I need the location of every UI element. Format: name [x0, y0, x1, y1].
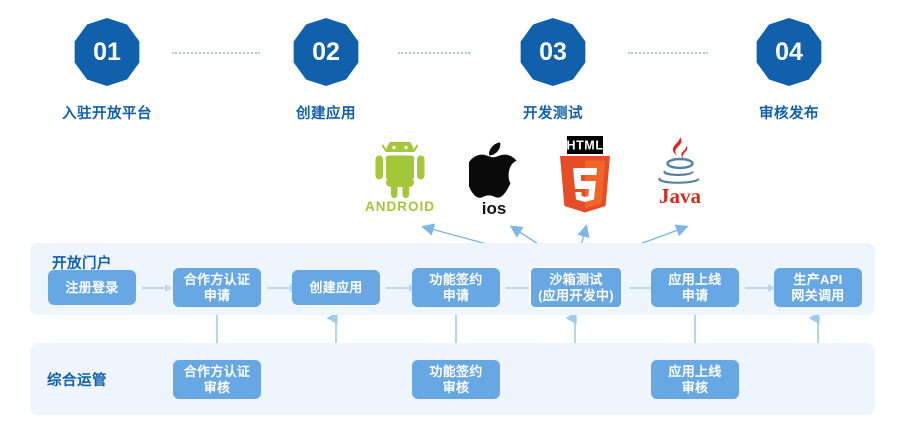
step-label-4: 审核发布 — [714, 102, 864, 123]
step-number-3: 03 — [539, 40, 567, 65]
step-label-2: 创建应用 — [251, 102, 401, 123]
node-register-label: 注册登录 — [65, 280, 118, 296]
step-badge-3: 03 — [519, 18, 587, 86]
node-feature-sign-review-label: 功能签约 审核 — [429, 364, 482, 396]
platform-ios: ios — [449, 136, 539, 217]
step-badges-row: 01 入驻开放平台 02 创建应用 03 开发测试 04 审核发布 — [0, 0, 900, 130]
node-app-online-review[interactable]: 应用上线 审核 — [651, 360, 739, 399]
node-partner-auth-review[interactable]: 合作方认证 审核 — [173, 360, 261, 399]
android-logo-icon — [355, 136, 445, 198]
node-create-app-label: 创建应用 — [309, 280, 362, 296]
step-number-4: 04 — [775, 40, 803, 65]
step-badge-2: 02 — [292, 18, 360, 86]
node-feature-sign-review[interactable]: 功能签约 审核 — [412, 360, 500, 399]
node-partner-auth-apply[interactable]: 合作方认证 申请 — [173, 268, 261, 307]
node-feature-sign-apply[interactable]: 功能签约 申请 — [412, 268, 500, 307]
node-register[interactable]: 注册登录 — [48, 270, 136, 305]
step-label-1: 入驻开放平台 — [32, 102, 182, 123]
platform-android: ANDROID — [355, 136, 445, 214]
step-connector-dots-2 — [398, 52, 470, 56]
node-partner-auth-apply-label: 合作方认证 申请 — [184, 272, 251, 304]
step-item-3: 03 开发测试 — [478, 18, 628, 123]
arrow-app-online-to-prod-api — [745, 283, 775, 293]
step-connector-dots-1 — [172, 52, 260, 56]
step-badge-1: 01 — [73, 18, 141, 86]
android-caption: ANDROID — [355, 200, 445, 214]
java-logo-icon — [635, 136, 725, 184]
node-partner-auth-review-label: 合作方认证 审核 — [184, 364, 251, 396]
svg-text:HTML: HTML — [566, 139, 603, 153]
apple-logo-icon — [449, 136, 539, 198]
step-number-1: 01 — [93, 40, 121, 65]
step-item-4: 04 审核发布 — [714, 18, 864, 123]
node-feature-sign-apply-label: 功能签约 申请 — [429, 272, 482, 304]
step-number-2: 02 — [312, 40, 340, 65]
diagram-canvas: 01 入驻开放平台 02 创建应用 03 开发测试 04 审核发布 — [0, 0, 900, 444]
step-connector-dots-3 — [628, 52, 708, 56]
ios-caption: ios — [449, 200, 539, 217]
html5-logo-icon: HTML — [540, 136, 630, 218]
step-label-3: 开发测试 — [478, 102, 628, 123]
node-sandbox-test[interactable]: 沙箱测试 (应用开发中) — [529, 266, 623, 309]
node-prod-api-gateway[interactable]: 生产API 网关调用 — [774, 268, 862, 307]
node-prod-api-gateway-label: 生产API 网关调用 — [791, 272, 844, 304]
java-caption: Java — [635, 186, 725, 206]
arrow-register-to-partner-auth — [142, 283, 172, 293]
node-sandbox-test-label: 沙箱测试 (应用开发中) — [538, 272, 614, 304]
step-badge-4: 04 — [755, 18, 823, 86]
platform-html5: HTML — [540, 136, 630, 220]
step-item-1: 01 入驻开放平台 — [32, 18, 182, 123]
platform-java: Java — [635, 136, 725, 206]
node-create-app[interactable]: 创建应用 — [292, 270, 380, 305]
ops-panel-title: 综合运管 — [47, 369, 107, 390]
node-app-online-apply[interactable]: 应用上线 申请 — [651, 268, 739, 307]
step-item-2: 02 创建应用 — [251, 18, 401, 123]
node-app-online-review-label: 应用上线 审核 — [668, 364, 721, 396]
node-app-online-apply-label: 应用上线 申请 — [668, 272, 721, 304]
platform-logos-row: ANDROID ios HTML — [0, 136, 900, 228]
